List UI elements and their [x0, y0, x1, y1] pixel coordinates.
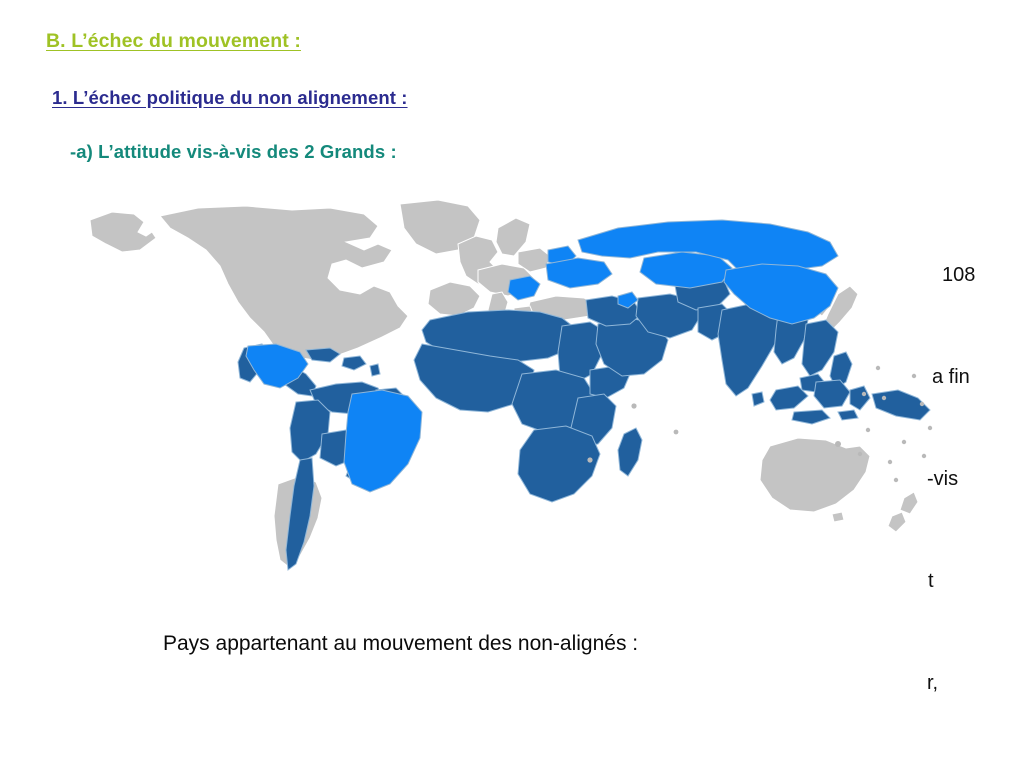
region-lesser-antilles	[370, 364, 380, 376]
island-dot	[920, 402, 924, 406]
island-dot	[922, 454, 926, 458]
heading-section: B. L’échec du mouvement :	[46, 30, 301, 53]
island-dot	[876, 366, 880, 370]
heading-point: -a) L’attitude vis-à-vis des 2 Grands :	[70, 141, 397, 163]
island-dot	[888, 460, 892, 464]
region-timor	[838, 410, 858, 420]
island-dot	[862, 392, 866, 396]
island-dot	[587, 457, 592, 462]
side-text-line-2: a fin	[930, 360, 1024, 394]
slide-canvas: B. L’échec du mouvement : 1. L’échec pol…	[0, 0, 1024, 768]
island-dot	[866, 428, 870, 432]
island-dot	[858, 452, 862, 456]
heading-subsection: 1. L’échec politique du non alignement :	[52, 87, 408, 109]
side-text-line-1: 108	[930, 258, 1024, 292]
island-dot	[894, 478, 898, 482]
island-dot	[882, 396, 886, 400]
island-dot	[902, 440, 906, 444]
side-text-line-5: r,	[927, 666, 1024, 700]
island-dot	[835, 441, 841, 447]
side-text-line-4: t	[928, 564, 1024, 598]
map-caption: Pays appartenant au mouvement des non-al…	[163, 632, 638, 656]
side-text-line-3: -vis	[927, 462, 1024, 496]
world-map-svg	[78, 198, 940, 584]
island-dot	[674, 430, 679, 435]
side-text-block: 108 a fin -vis t r,	[930, 190, 1024, 768]
world-map	[78, 198, 940, 584]
island-dot	[631, 403, 636, 408]
island-dot	[912, 374, 916, 378]
region-tasmania	[832, 512, 844, 522]
